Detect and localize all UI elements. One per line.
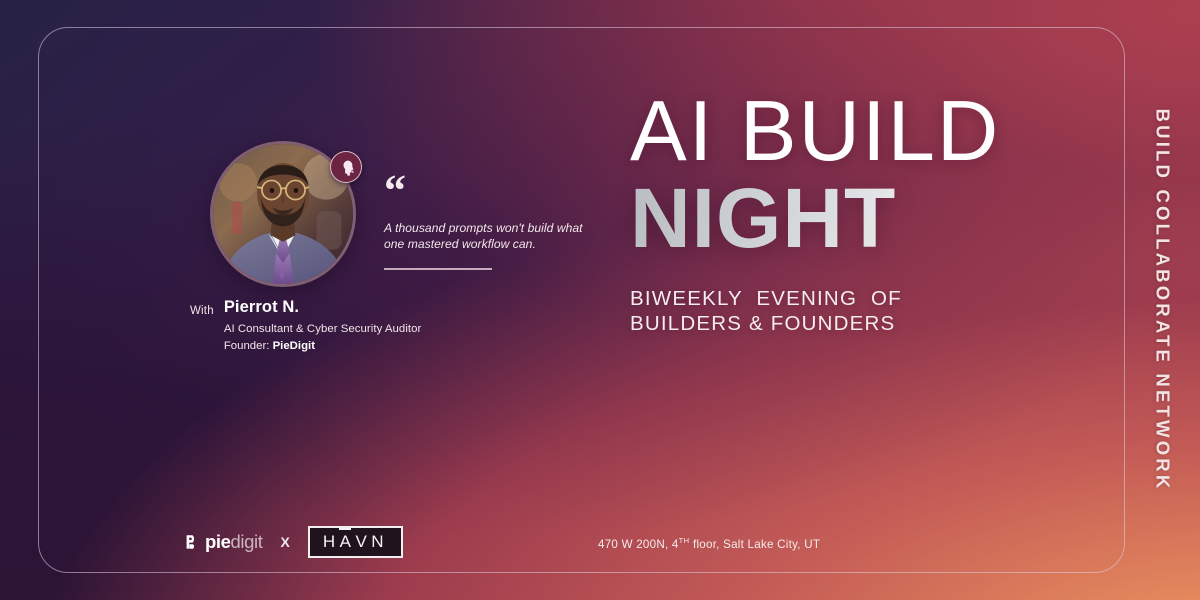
havn-a-macron: A [340,532,356,551]
quote-block: “ A thousand prompts won't build what on… [384,178,584,270]
vertical-keywords-text: BUILD COLLABORATE NETWORK [1152,109,1174,492]
speaker-section: s “ A thousand prompts won't build what … [0,0,600,600]
havn-logo: HAVN [308,526,403,558]
speaker-name: Pierrot N. [224,298,422,317]
speaker-role: AI Consultant & Cyber Security Auditor [224,322,422,336]
address-prefix: 470 W 200N, 4 [598,538,679,551]
founder-company: PieDigit [273,340,315,352]
avatar-wrapper: s [210,141,356,287]
with-label: With [190,298,224,317]
svg-text:s: s [351,168,353,173]
founder-prefix: Founder: [224,340,273,352]
speaker-name-block: With Pierrot N. AI Consultant & Cyber Se… [190,298,421,353]
venue-address: 470 W 200N, 4TH floor, Salt Lake City, U… [598,536,820,551]
speaker-badge: s [330,151,362,183]
quote-divider [384,268,492,269]
speaker-founder: Founder: PieDigit [224,339,422,353]
quote-text: A thousand prompts won't build what one … [384,220,584,252]
title-line-2: NIGHT [630,172,1100,264]
havn-h: H [323,532,340,551]
piedigit-wordmark: piedigit [205,533,262,551]
piedigit-logo: piedigit [186,533,262,551]
footer-logos: piedigit X HAVN [186,526,403,558]
tagline: BIWEEKLY EVENING OF BUILDERS & FOUNDERS [630,286,1100,336]
havn-vn: VN [355,532,388,551]
address-suffix: floor, Salt Lake City, UT [690,538,821,551]
address-ordinal-suffix: TH [679,536,690,545]
piedigit-digit: digit [231,531,263,552]
speaker-head-icon: s [337,158,356,177]
piedigit-mark-icon [186,534,200,550]
logo-separator-x: X [278,534,291,550]
headline-section: AI BUILD NIGHT BIWEEKLY EVENING OF BUILD… [630,86,1100,336]
tagline-line-2: BUILDERS & FOUNDERS [630,311,1100,336]
vertical-keywords-rail: BUILD COLLABORATE NETWORK [1125,0,1200,600]
title-line-1: AI BUILD [630,86,1100,178]
tagline-line-1: BIWEEKLY EVENING OF [630,286,1100,311]
piedigit-pie: pie [205,531,231,552]
havn-wordmark: HAVN [323,533,388,550]
quote-mark-icon: “ [384,178,584,204]
